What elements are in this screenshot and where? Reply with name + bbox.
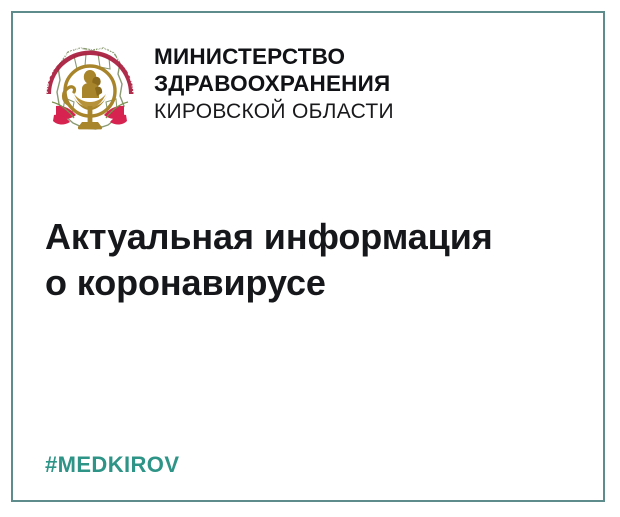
hashtag-medkirov: #MEDKIROV	[45, 452, 179, 478]
brand-line-kirovskoy-oblasti: КИРОВСКОЙ ОБЛАСТИ	[154, 99, 394, 125]
announcement-card: ЗДРАВООХРАНЕНИЕ КИРОВСКОЙ ОБЛАСТИ	[0, 0, 620, 517]
ministry-brand-lockup: ЗДРАВООХРАНЕНИЕ КИРОВСКОЙ ОБЛАСТИ	[38, 36, 394, 140]
brand-line-ministerstvo: МИНИСТЕРСТВО	[154, 44, 394, 71]
page-title: Актуальная информация о коронавирусе	[45, 214, 493, 305]
ministry-of-health-kirov-emblem-icon: ЗДРАВООХРАНЕНИЕ КИРОВСКОЙ ОБЛАСТИ	[38, 36, 142, 140]
ministry-brand-text: МИНИСТЕРСТВО ЗДРАВООХРАНЕНИЯ КИРОВСКОЙ О…	[154, 36, 394, 125]
brand-line-zdravoohraneniya: ЗДРАВООХРАНЕНИЯ	[154, 71, 394, 98]
